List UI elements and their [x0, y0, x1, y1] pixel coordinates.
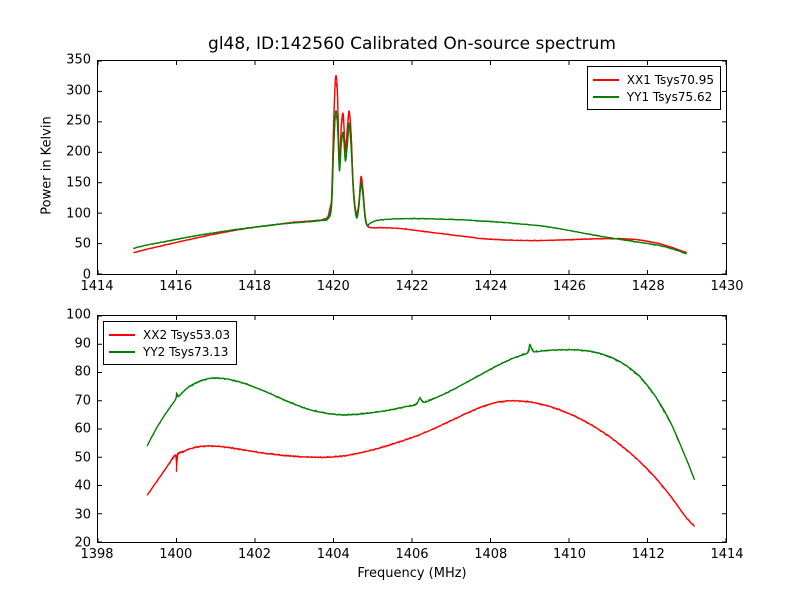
legend-line-swatch-yy2 [109, 351, 135, 353]
top-panel-legend: XX1 Tsys70.95 YY1 Tsys75.62 [587, 66, 721, 110]
bottom-x-tick-label: 1400 [159, 547, 192, 562]
top-x-tick-label: 1430 [710, 279, 743, 294]
bottom-y-tick-label: 40 [35, 479, 91, 494]
legend-item[interactable]: XX1 Tsys70.95 [593, 71, 714, 88]
top-y-tick-label: 300 [35, 83, 91, 98]
bottom-x-tick-label: 1406 [395, 547, 428, 562]
top-x-tick-label: 1426 [553, 279, 586, 294]
top-x-tick-label: 1420 [317, 279, 350, 294]
bottom-panel-legend: XX2 Tsys53.03 YY2 Tsys73.13 [103, 321, 237, 365]
legend-label-yy2: YY2 Tsys73.13 [143, 345, 228, 359]
legend-line-swatch-yy1 [593, 96, 619, 98]
top-x-tick-label: 1418 [238, 279, 271, 294]
bottom-x-tick-label: 1410 [553, 547, 586, 562]
top-x-tick-label: 1422 [395, 279, 428, 294]
top-panel-axes: XX1 Tsys70.95 YY1 Tsys75.62 [97, 60, 727, 275]
top-y-tick-label: 350 [35, 53, 91, 68]
figure-canvas: gl48, ID:142560 Calibrated On-source spe… [0, 0, 800, 600]
bottom-panel-x-axis-label: Frequency (MHz) [97, 566, 727, 581]
bottom-y-tick-label: 30 [35, 507, 91, 522]
top-y-tick-label: 150 [35, 175, 91, 190]
top-y-tick-label: 200 [35, 145, 91, 160]
top-x-tick-label: 1416 [159, 279, 192, 294]
bottom-panel-axes: XX2 Tsys53.03 YY2 Tsys73.13 [97, 315, 727, 543]
top-y-tick-label: 250 [35, 114, 91, 129]
bottom-x-tick-label: 1398 [80, 547, 113, 562]
bottom-y-tick-label: 100 [35, 308, 91, 323]
figure-title: gl48, ID:142560 Calibrated On-source spe… [97, 34, 727, 54]
bottom-y-tick-label: 70 [35, 393, 91, 408]
legend-line-swatch-xx2 [109, 334, 135, 336]
legend-label-xx2: XX2 Tsys53.03 [143, 328, 230, 342]
bottom-x-tick-label: 1402 [238, 547, 271, 562]
top-x-tick-label: 1414 [80, 279, 113, 294]
bottom-x-tick-label: 1414 [710, 547, 743, 562]
top-x-tick-label: 1428 [632, 279, 665, 294]
top-y-tick-label: 50 [35, 237, 91, 252]
bottom-x-tick-label: 1412 [632, 547, 665, 562]
bottom-y-tick-label: 90 [35, 336, 91, 351]
bottom-y-tick-label: 60 [35, 422, 91, 437]
bottom-x-tick-label: 1408 [474, 547, 507, 562]
bottom-y-tick-label: 80 [35, 365, 91, 380]
legend-item[interactable]: YY1 Tsys75.62 [593, 88, 714, 105]
legend-item[interactable]: XX2 Tsys53.03 [109, 326, 230, 343]
bottom-x-tick-label: 1404 [317, 547, 350, 562]
top-y-tick-label: 100 [35, 206, 91, 221]
legend-item[interactable]: YY2 Tsys73.13 [109, 343, 230, 360]
bottom-y-tick-label: 50 [35, 450, 91, 465]
legend-line-swatch-xx1 [593, 79, 619, 81]
legend-label-yy1: YY1 Tsys75.62 [627, 90, 712, 104]
legend-label-xx1: XX1 Tsys70.95 [627, 73, 714, 87]
top-x-tick-label: 1424 [474, 279, 507, 294]
